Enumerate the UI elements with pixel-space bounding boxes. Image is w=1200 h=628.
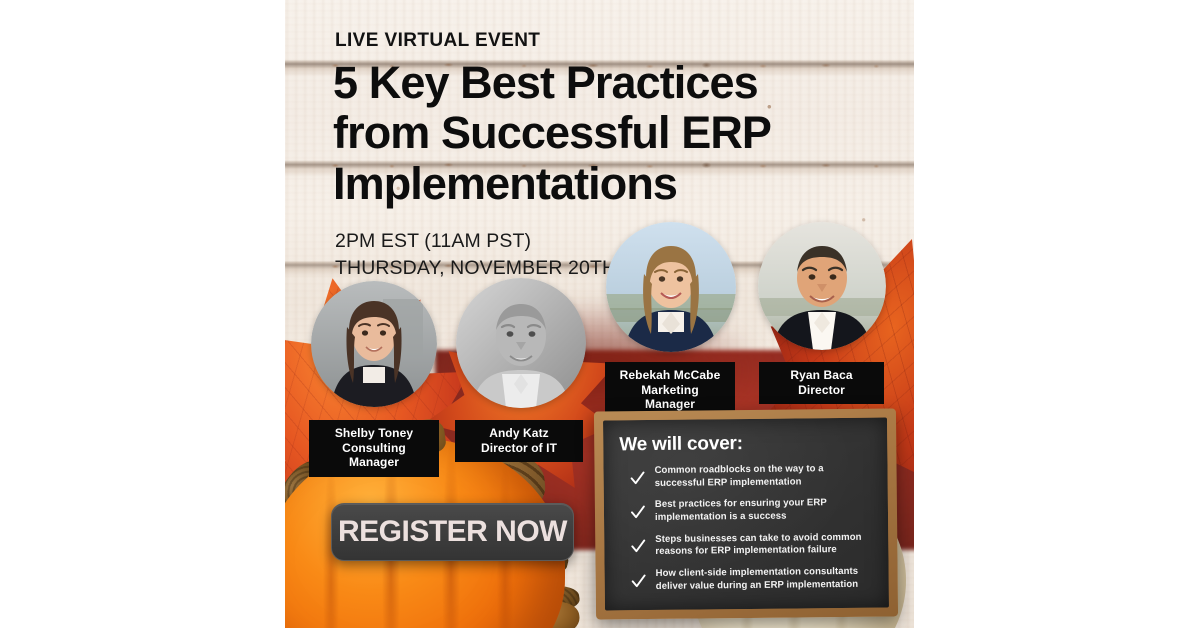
checkmark-icon	[630, 470, 646, 486]
speaker-role: Marketing Manager	[615, 383, 725, 412]
checkmark-icon	[630, 538, 646, 554]
agenda-item-text: Steps businesses can take to avoid commo…	[655, 531, 874, 559]
speaker-name: Andy Katz	[465, 426, 573, 441]
speaker-nameplate: Ryan Baca Director	[759, 362, 884, 404]
event-datetime: 2PM EST (11AM PST) THURSDAY, NOVEMBER 20…	[335, 228, 616, 282]
headline-line-1: 5 Key Best Practices	[333, 58, 853, 108]
agenda-item-text: How client-side implementation consultan…	[656, 566, 875, 594]
avatar	[606, 222, 736, 352]
chalkboard-title: We will cover:	[619, 432, 873, 457]
avatar	[758, 222, 886, 350]
list-item: Best practices for ensuring your ERP imp…	[620, 497, 874, 525]
checkmark-icon	[631, 573, 647, 589]
agenda-chalkboard: We will cover: Common roadblocks on the …	[594, 408, 898, 619]
agenda-item-text: Best practices for ensuring your ERP imp…	[655, 497, 874, 525]
agenda-item-text: Common roadblocks on the way to a succes…	[654, 463, 873, 491]
chalkboard-surface: We will cover: Common roadblocks on the …	[603, 418, 889, 611]
checkmark-icon	[630, 504, 646, 520]
agenda-list: Common roadblocks on the way to a succes…	[619, 463, 874, 594]
event-type-eyebrow: LIVE VIRTUAL EVENT	[335, 30, 540, 52]
speaker-role: Director of IT	[465, 441, 573, 456]
avatar	[311, 281, 437, 407]
speaker-name: Shelby Toney	[319, 426, 429, 441]
speaker-role: Consulting Manager	[319, 441, 429, 470]
speaker-name: Rebekah McCabe	[615, 368, 725, 383]
headline-line-2: from Successful ERP	[333, 108, 853, 158]
avatar	[456, 278, 586, 408]
speaker-nameplate: Andy Katz Director of IT	[455, 420, 583, 462]
register-button-label: REGISTER NOW	[338, 515, 567, 549]
page-title: 5 Key Best Practices from Successful ERP…	[333, 58, 853, 209]
speaker-nameplate: Shelby Toney Consulting Manager	[309, 420, 439, 477]
list-item: Steps businesses can take to avoid commo…	[620, 531, 874, 559]
list-item: Common roadblocks on the way to a succes…	[619, 463, 873, 491]
event-time: 2PM EST (11AM PST)	[335, 228, 616, 255]
promo-banner: LIVE VIRTUAL EVENT 5 Key Best Practices …	[285, 0, 914, 628]
speaker-name: Ryan Baca	[769, 368, 874, 383]
headline-line-3: Implementations	[333, 159, 853, 209]
event-date: THURSDAY, NOVEMBER 20TH	[335, 255, 616, 282]
list-item: How client-side implementation consultan…	[621, 566, 875, 594]
register-now-button[interactable]: REGISTER NOW	[331, 503, 574, 561]
speaker-role: Director	[769, 383, 874, 398]
